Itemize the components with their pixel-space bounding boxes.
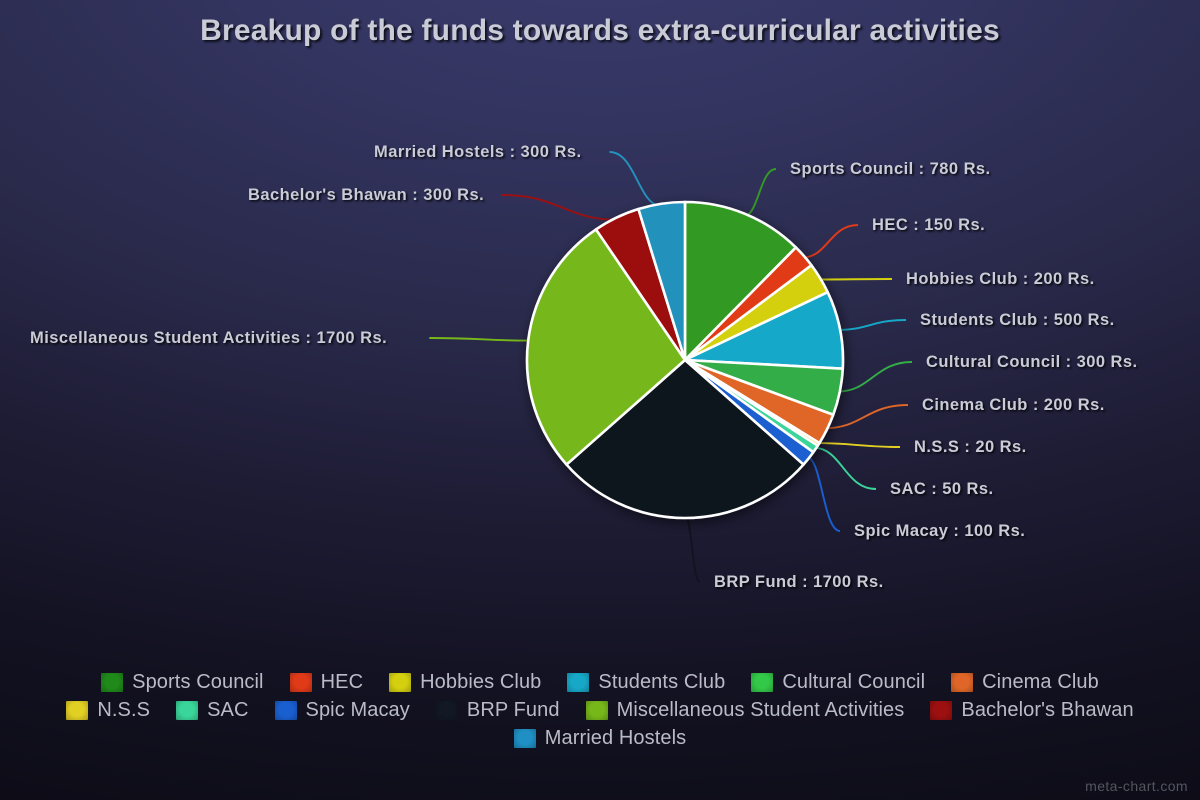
leader-line-brp-fund: [685, 516, 700, 582]
legend-label: Cinema Club: [982, 672, 1099, 692]
legend-item[interactable]: BRP Fund: [436, 696, 560, 724]
legend-label: Bachelor's Bhawan: [961, 700, 1133, 720]
legend-label: SAC: [207, 700, 248, 720]
callout-spic-macay: Spic Macay : 100 Rs.: [854, 522, 1025, 541]
legend-item[interactable]: Spic Macay: [275, 696, 410, 724]
legend-swatch-icon: [567, 673, 589, 692]
legend-label: Cultural Council: [782, 672, 925, 692]
leader-line-sac: [814, 448, 876, 489]
leader-line-students-club: [838, 320, 906, 330]
callout-brp-fund: BRP Fund : 1700 Rs.: [714, 573, 884, 592]
leader-line-hobbies-club: [818, 279, 892, 280]
watermark: meta-chart.com: [1085, 778, 1188, 794]
callout-sac: SAC : 50 Rs.: [890, 480, 994, 499]
callout-married-hostels: Married Hostels : 300 Rs.: [374, 143, 582, 162]
leader-line-misc-student: [429, 338, 530, 341]
callout-hec: HEC : 150 Rs.: [872, 216, 985, 235]
legend-item[interactable]: N.S.S: [66, 696, 150, 724]
legend-swatch-icon: [275, 701, 297, 720]
legend-item[interactable]: Miscellaneous Student Activities: [586, 696, 905, 724]
legend-item[interactable]: SAC: [176, 696, 248, 724]
legend-swatch-icon: [514, 729, 536, 748]
chart-legend: Sports CouncilHECHobbies ClubStudents Cl…: [0, 668, 1200, 752]
callout-nss: N.S.S : 20 Rs.: [914, 438, 1027, 457]
callout-hobbies-club: Hobbies Club : 200 Rs.: [906, 270, 1095, 289]
legend-label: Miscellaneous Student Activities: [617, 700, 905, 720]
legend-swatch-icon: [101, 673, 123, 692]
callout-misc-student: Miscellaneous Student Activities : 1700 …: [30, 329, 387, 348]
callout-sports-council: Sports Council : 780 Rs.: [790, 160, 991, 179]
pie-slices-group: Sports Council : 780 Rs.HEC : 150 Rs.Hob…: [527, 202, 843, 518]
legend-swatch-icon: [66, 701, 88, 720]
chart-page: Breakup of the funds towards extra-curri…: [0, 0, 1200, 800]
leader-line-bachelors-bhawan: [502, 195, 618, 220]
callout-cinema-club: Cinema Club : 200 Rs.: [922, 396, 1105, 415]
legend-item[interactable]: Cultural Council: [751, 668, 925, 696]
legend-item[interactable]: Sports Council: [101, 668, 263, 696]
callout-bachelors-bhawan: Bachelor's Bhawan : 300 Rs.: [248, 186, 484, 205]
legend-swatch-icon: [951, 673, 973, 692]
legend-label: Sports Council: [132, 672, 263, 692]
legend-swatch-icon: [930, 701, 952, 720]
leader-line-cinema-club: [825, 405, 908, 428]
legend-item[interactable]: Cinema Club: [951, 668, 1099, 696]
leader-line-married-hostels: [610, 152, 662, 206]
legend-label: HEC: [321, 672, 364, 692]
legend-swatch-icon: [176, 701, 198, 720]
leader-line-nss: [817, 443, 900, 447]
leader-line-spic-macay: [807, 457, 840, 531]
legend-label: Students Club: [598, 672, 725, 692]
callout-students-club: Students Club : 500 Rs.: [920, 311, 1115, 330]
legend-item[interactable]: Bachelor's Bhawan: [930, 696, 1133, 724]
legend-swatch-icon: [389, 673, 411, 692]
leader-line-sports-council: [744, 169, 776, 216]
legend-swatch-icon: [751, 673, 773, 692]
legend-item[interactable]: Hobbies Club: [389, 668, 541, 696]
legend-swatch-icon: [436, 701, 458, 720]
legend-label: Hobbies Club: [420, 672, 541, 692]
legend-item[interactable]: Students Club: [567, 668, 725, 696]
legend-label: Spic Macay: [306, 700, 410, 720]
legend-label: Married Hostels: [545, 728, 687, 748]
leader-line-hec: [802, 225, 858, 258]
legend-swatch-icon: [586, 701, 608, 720]
legend-item[interactable]: Married Hostels: [514, 724, 687, 752]
legend-swatch-icon: [290, 673, 312, 692]
legend-item[interactable]: HEC: [290, 668, 364, 696]
legend-label: N.S.S: [97, 700, 150, 720]
legend-label: BRP Fund: [467, 700, 560, 720]
callout-cultural-council: Cultural Council : 300 Rs.: [926, 353, 1138, 372]
leader-line-cultural-council: [837, 362, 912, 392]
page-title: Breakup of the funds towards extra-curri…: [0, 14, 1200, 48]
